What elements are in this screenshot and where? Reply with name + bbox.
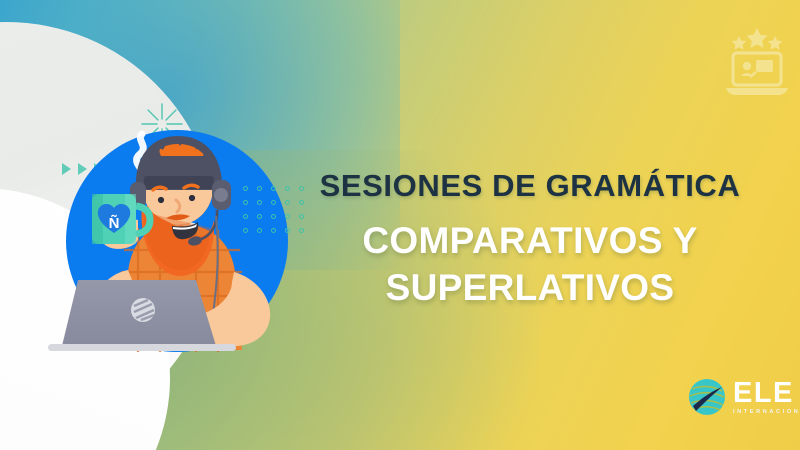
mug-letter: Ñ xyxy=(109,214,120,232)
star-icon xyxy=(732,36,746,50)
star-icon xyxy=(768,36,782,50)
subtitle-line-2: SUPERLATIVOS xyxy=(282,264,778,311)
person-icon xyxy=(743,62,751,70)
logo-tagline: INTERNACIONAL xyxy=(733,410,800,416)
subtitle-line-1: COMPARATIVOS Y xyxy=(282,217,778,264)
man-with-headset-at-laptop-illustration: Ñ xyxy=(20,120,320,370)
globe-swoosh-icon xyxy=(688,378,726,416)
logo-name: ELE xyxy=(733,379,800,408)
page-title: SESIONES DE GRAMÁTICA xyxy=(282,170,778,203)
star-icon xyxy=(747,28,768,48)
title-block: SESIONES DE GRAMÁTICA COMPARATIVOS Y SUP… xyxy=(282,170,778,311)
laptop-presentation-stars-icon xyxy=(724,26,790,100)
brand-logo[interactable]: ELE INTERNACIONAL xyxy=(688,378,800,416)
promo-banner: Ñ SESIONES DE GRAMÁTICA COMPARATIVOS Y xyxy=(0,0,800,450)
